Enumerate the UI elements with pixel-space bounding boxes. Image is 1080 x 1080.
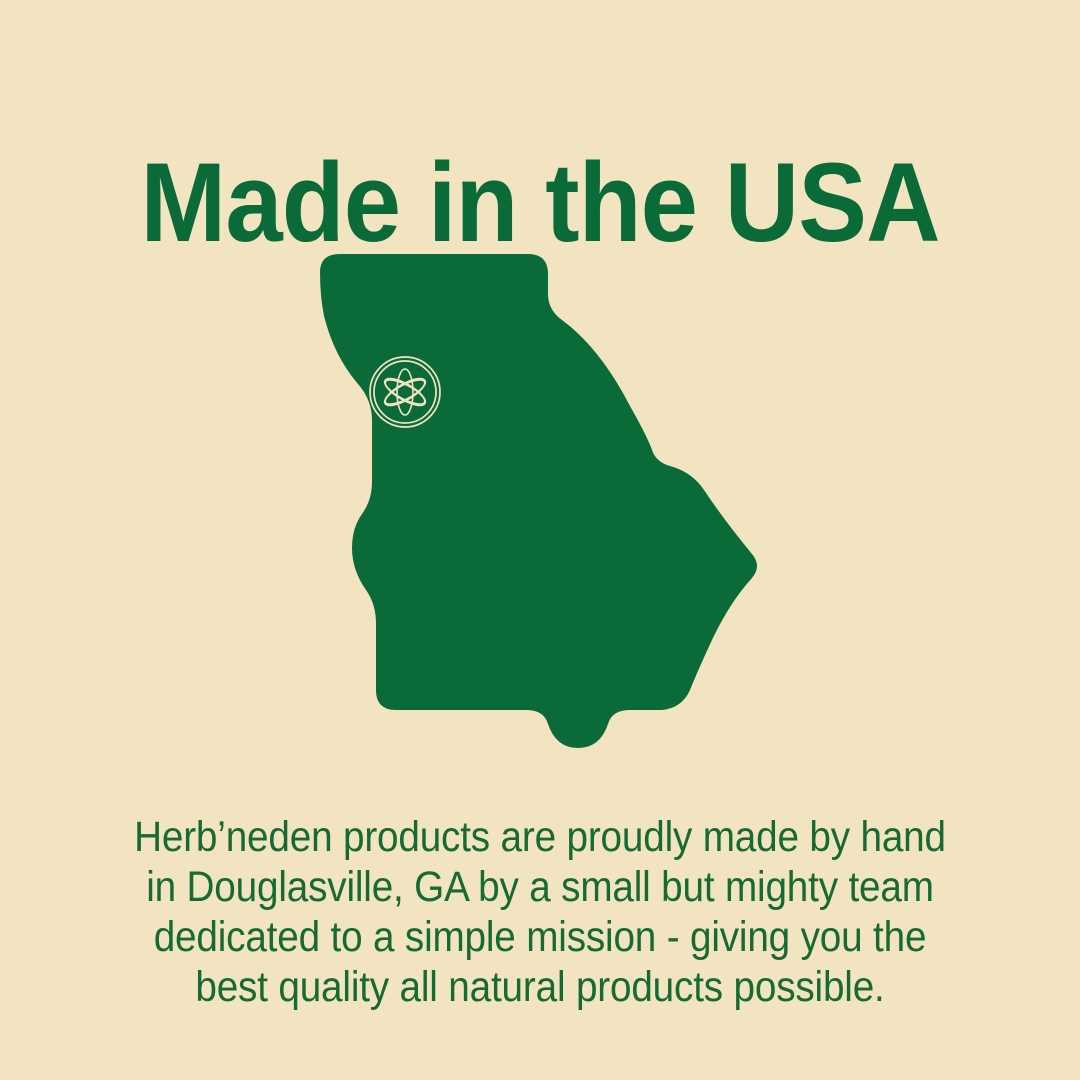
description-line-1: Herb’neden products are proudly made by …	[54, 812, 1026, 862]
georgia-state-shape	[320, 254, 757, 748]
description-line-2: in Douglasville, GA by a small but might…	[54, 862, 1026, 912]
made-in-usa-card: Made in the USA Herb’neden products are …	[0, 0, 1080, 1080]
state-map-graphic	[0, 238, 1080, 768]
georgia-map-svg	[300, 238, 780, 758]
description-line-3: dedicated to a simple mission - giving y…	[54, 912, 1026, 962]
description-text: Herb’neden products are proudly made by …	[54, 812, 1026, 1012]
description-line-4: best quality all natural products possib…	[54, 962, 1026, 1012]
